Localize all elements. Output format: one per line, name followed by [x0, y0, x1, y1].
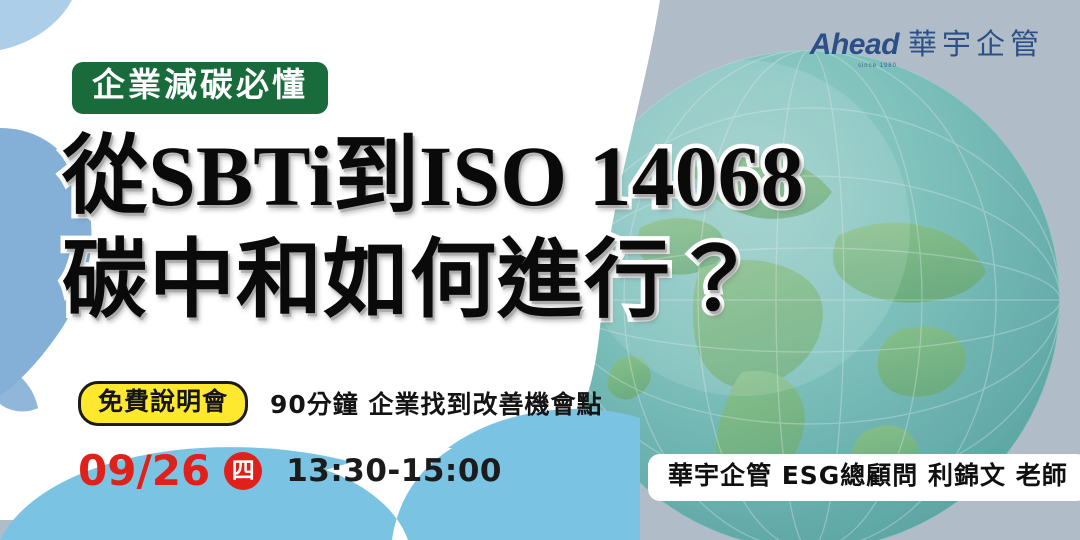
promo-banner: Ahead since 1980 華宇企管 企業減碳必懂 從SBTi到ISO 1… — [0, 0, 1080, 540]
page-title: 從SBTi到ISO 14068 碳中和如何進行？ — [62, 133, 1052, 324]
speaker-badge: 華宇企管 ESG總顧問 利錦文 老師 — [648, 454, 1080, 501]
headline-line-1: 從SBTi到ISO 14068 — [62, 133, 1052, 221]
logo-wordmark: Ahead since 1980 — [810, 30, 899, 60]
headline-line-2: 碳中和如何進行？ — [62, 237, 1052, 325]
brand-logo: Ahead since 1980 華宇企管 — [810, 30, 1044, 60]
seminar-description: 90分鐘 企業找到改善機會點 — [270, 385, 603, 421]
logo-wordmark-text: Ahead — [810, 28, 899, 61]
free-seminar-badge: 免費說明會 — [78, 381, 248, 426]
weekday-circle-icon: 四 — [224, 452, 262, 490]
event-time: 13:30-15:00 — [286, 453, 502, 489]
logo-since-text: since 1980 — [858, 63, 897, 69]
event-date: 09/26 — [78, 450, 210, 492]
schedule-row: 09/26 四 13:30-15:00 — [78, 450, 502, 492]
seminar-row: 免費說明會 90分鐘 企業找到改善機會點 — [78, 381, 603, 426]
kicker-badge: 企業減碳必懂 — [72, 62, 328, 114]
logo-company-name: 華宇企管 — [908, 31, 1044, 60]
